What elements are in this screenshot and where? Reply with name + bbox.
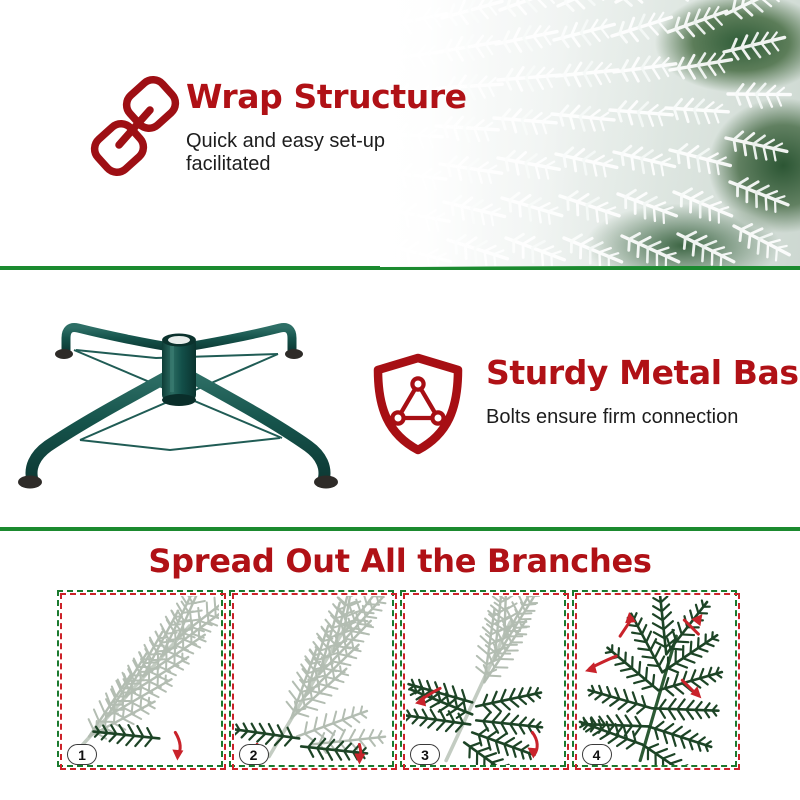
product-infographic-page: Wrap Structure Quick and easy set-up fac… <box>0 0 800 800</box>
metal-base-subtitle: Bolts ensure firm connection <box>486 406 746 429</box>
wrap-structure-title: Wrap Structure <box>186 78 467 116</box>
panel-step-number: 2 <box>239 744 269 765</box>
wrap-structure-subtitle: Quick and easy set-up facilitated <box>186 130 446 176</box>
branch-step-2-illustration <box>235 596 391 765</box>
metal-base-text-block: Sturdy Metal Base Bolts ensure firm conn… <box>486 354 800 429</box>
branch-step-panel: 3 <box>400 590 572 773</box>
spread-branches-title: Spread Out All the Branches <box>0 543 800 579</box>
branch-step-4-illustration <box>578 596 734 765</box>
panel-step-number: 1 <box>67 744 97 765</box>
section-sturdy-metal-base: Sturdy Metal Base Bolts ensure firm conn… <box>0 270 800 527</box>
panel-step-number: 3 <box>410 744 440 765</box>
section-spread-branches: Spread Out All the Branches <box>0 531 800 800</box>
branch-step-3-illustration <box>406 596 562 765</box>
wrap-structure-text-block: Wrap Structure Quick and easy set-up fac… <box>186 78 467 176</box>
branch-step-panel: 1 <box>57 590 229 773</box>
metal-base-title: Sturdy Metal Base <box>486 354 800 392</box>
metal-tree-stand-photo <box>10 288 340 503</box>
branch-step-panel: 2 <box>229 590 401 773</box>
chain-link-icon <box>88 76 180 180</box>
section-wrap-structure: Wrap Structure Quick and easy set-up fac… <box>0 0 800 267</box>
branch-step-panels: 1 <box>57 590 743 773</box>
branch-step-panel: 4 <box>572 590 744 773</box>
branch-step-1-illustration <box>63 596 219 765</box>
shield-triangle-bolts-icon <box>370 352 466 456</box>
panel-step-number: 4 <box>582 744 612 765</box>
